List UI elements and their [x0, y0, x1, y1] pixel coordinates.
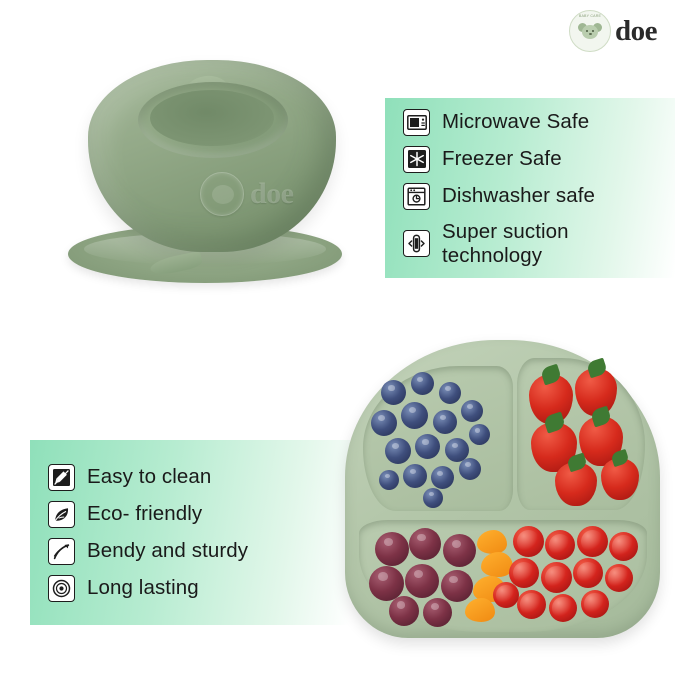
- easy-clean-icon: [48, 464, 75, 491]
- feature-easy-to-clean: Easy to clean: [48, 464, 332, 491]
- feature-label: Dishwasher safe: [442, 184, 595, 208]
- bowl-interior: [150, 90, 274, 146]
- silicone-suction-bowl-photo: doe: [40, 30, 370, 290]
- logo-ring-text: BABY CARE: [570, 14, 610, 18]
- feature-label: Super suction technology: [442, 220, 569, 268]
- feature-long-lasting: Long lasting: [48, 575, 332, 602]
- koala-logo-icon: BABY CARE: [569, 10, 611, 52]
- leaf-icon: [48, 501, 75, 528]
- feature-freezer-safe: Freezer Safe: [403, 146, 657, 173]
- bottom-feature-panel: Easy to clean Eco- friendly Bendy and st…: [30, 440, 350, 625]
- brand-logo: BABY CARE doe: [569, 10, 657, 52]
- divided-suction-plate-photo: [335, 330, 665, 650]
- feature-label: Long lasting: [87, 576, 199, 600]
- suction-icon: [403, 230, 430, 257]
- feature-dishwasher-safe: Dishwasher safe: [403, 183, 657, 210]
- bowl-embossed-logo: doe: [200, 170, 360, 218]
- strawberries-compartment: [517, 358, 645, 510]
- dishwasher-icon: [403, 183, 430, 210]
- feature-eco-friendly: Eco- friendly: [48, 501, 332, 528]
- brand-wordmark: doe: [615, 16, 657, 46]
- koala-face: [579, 22, 601, 42]
- feature-label: Freezer Safe: [442, 147, 562, 171]
- feature-bendy-and-sturdy: Bendy and sturdy: [48, 538, 332, 565]
- koala-nose: [589, 33, 592, 36]
- microwave-icon: [403, 109, 430, 136]
- bendy-icon: [48, 538, 75, 565]
- feature-label: Easy to clean: [87, 465, 211, 489]
- embossed-wordmark: doe: [250, 177, 294, 211]
- snowflake-icon: [403, 146, 430, 173]
- feature-microwave-safe: Microwave Safe: [403, 109, 657, 136]
- bowl-body: doe: [88, 60, 336, 252]
- feature-super-suction: Super suction technology: [403, 220, 657, 268]
- embossed-koala-icon: [200, 172, 244, 216]
- feature-label: Microwave Safe: [442, 110, 589, 134]
- long-lasting-icon: [48, 575, 75, 602]
- blueberries-compartment: [363, 366, 513, 511]
- feature-label: Eco- friendly: [87, 502, 202, 526]
- koala-head: [582, 25, 598, 39]
- feature-label: Bendy and sturdy: [87, 539, 248, 563]
- top-feature-panel: Microwave Safe Freezer Safe: [385, 98, 675, 278]
